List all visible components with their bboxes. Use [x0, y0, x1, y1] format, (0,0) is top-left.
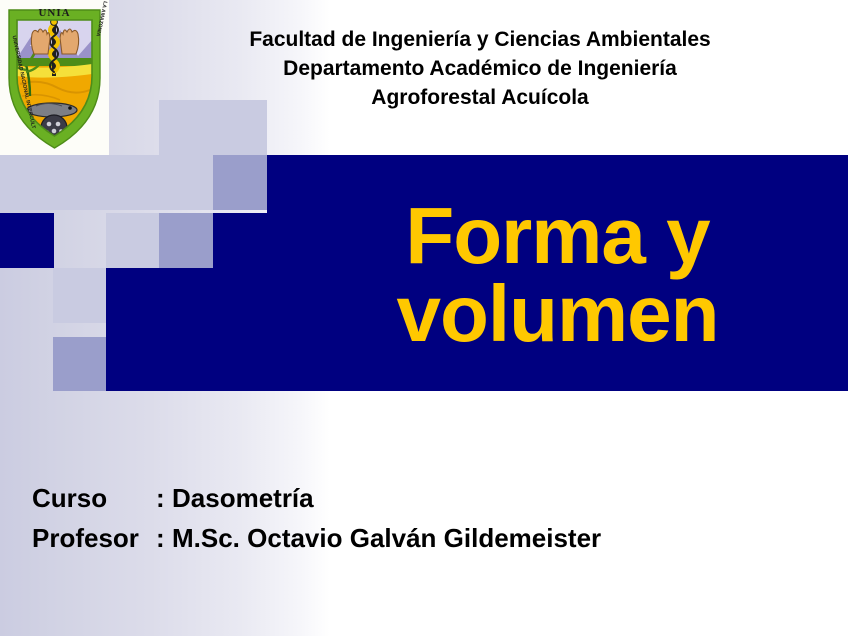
decor-square: [53, 268, 107, 323]
decor-square: [108, 155, 162, 210]
decor-square: [159, 155, 213, 210]
unia-logo-container: UNIA UNIVERSIDAD NACIONAL INTERCULT URAL…: [0, 0, 109, 155]
institution-header: Facultad de Ingeniería y Ciencias Ambien…: [120, 26, 840, 113]
title-banner-lower: [106, 268, 848, 391]
curso-label: Curso: [32, 478, 156, 518]
info-row-curso: Curso : Dasometría: [32, 478, 601, 518]
profesor-label: Profesor: [32, 518, 156, 558]
curso-colon: :: [156, 478, 172, 518]
presentation-slide: Forma y volumen Facultad de Ingeniería y…: [0, 0, 848, 636]
decor-square: [54, 155, 108, 210]
profesor-value: M.Sc. Octavio Galván Gildemeister: [172, 518, 601, 558]
decor-square-navy: [0, 213, 54, 268]
decor-square: [53, 337, 107, 391]
profesor-colon: :: [156, 518, 172, 558]
unia-university-crest-icon: UNIA UNIVERSIDAD NACIONAL INTERCULT URAL…: [0, 0, 109, 155]
decor-square: [159, 213, 213, 268]
title-banner-middle: [213, 213, 848, 273]
decor-square: [0, 155, 54, 210]
decor-square: [213, 155, 267, 210]
header-line-program: Agroforestal Acuícola: [120, 84, 840, 113]
header-line-department: Departamento Académico de Ingeniería: [120, 55, 840, 84]
logo-acronym: UNIA: [38, 7, 70, 19]
course-info-block: Curso : Dasometría Profesor : M.Sc. Octa…: [32, 478, 601, 559]
decor-square: [106, 213, 160, 268]
header-line-faculty: Facultad de Ingeniería y Ciencias Ambien…: [120, 26, 840, 55]
info-row-profesor: Profesor : M.Sc. Octavio Galván Gildemei…: [32, 518, 601, 558]
curso-value: Dasometría: [172, 478, 314, 518]
